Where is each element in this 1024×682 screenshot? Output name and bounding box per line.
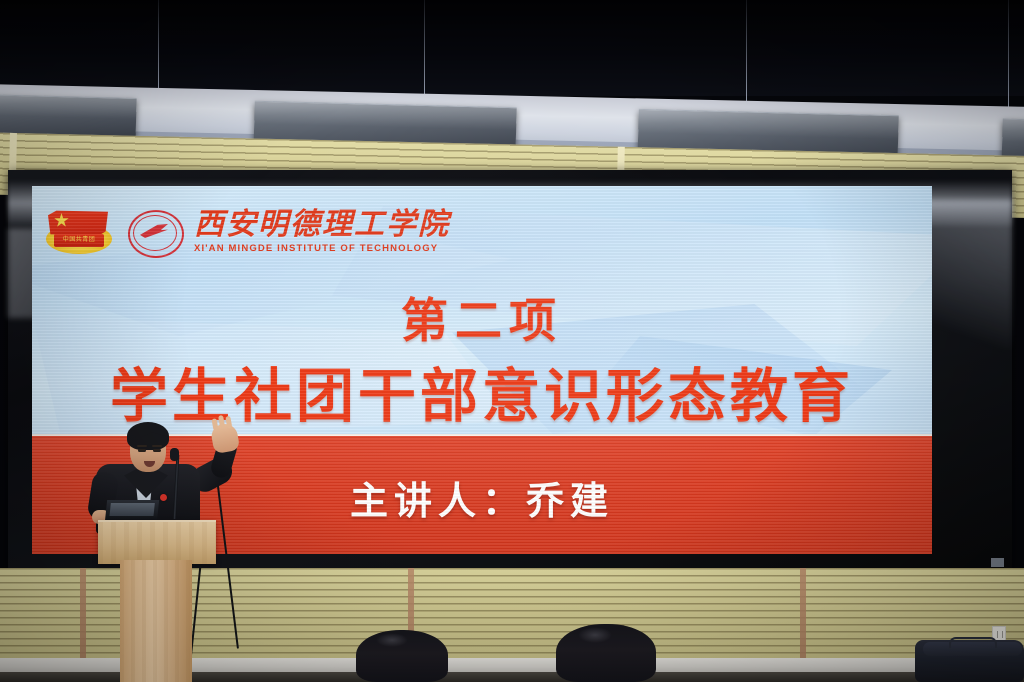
presenter-eye-right [153, 449, 161, 452]
emblem-band: 中国共青团 [54, 234, 104, 247]
lectern-column [120, 560, 192, 682]
lamp-gloss [638, 110, 898, 140]
laptop-screen [109, 503, 154, 516]
university-name-en: XI'AN MINGDE INSTITUTE OF TECHNOLOGY [194, 243, 450, 254]
light-cable [424, 0, 425, 104]
panel-joint [800, 568, 806, 668]
presenter-eyebrow-right [152, 445, 162, 447]
light-cable [1008, 0, 1009, 112]
university-seal-icon [126, 208, 182, 256]
audience-head-right [556, 624, 656, 682]
university-name-block: 西安明德理工学院 XI'AN MINGDE INSTITUTE OF TECHN… [194, 210, 450, 254]
hair-highlight [578, 627, 612, 642]
panel-joint [80, 568, 86, 668]
audience-head-left [356, 630, 448, 682]
communist-youth-league-emblem-icon: 中国共青团 [42, 208, 116, 256]
screen-status-pixel [991, 558, 1004, 567]
lecture-hall-photo: 中国共青团 西安明德理工学院 XI'AN MINGDE INSTITUTE OF… [0, 0, 1024, 682]
presenter-lapel-pin [160, 494, 167, 501]
presenter-eye-left [138, 449, 146, 452]
hair-highlight [376, 633, 407, 647]
duffel-bag-on-floor [915, 640, 1024, 682]
ceiling [0, 0, 1024, 96]
university-name-cn: 西安明德理工学院 [194, 210, 450, 240]
slide-logo-row: 中国共青团 西安明德理工学院 XI'AN MINGDE INSTITUTE OF… [42, 204, 450, 260]
slide-section-label: 第二项 [32, 282, 932, 351]
lectern-top [98, 520, 216, 564]
bag-handle [949, 637, 997, 648]
presenter-eyebrow-left [137, 445, 147, 447]
finger [225, 416, 232, 429]
laptop-on-lectern[interactable] [105, 500, 159, 522]
lamp-gloss [254, 102, 516, 131]
microphone-head-icon [170, 448, 179, 461]
lamp-gloss [0, 95, 137, 119]
light-cable [158, 0, 159, 96]
finger [212, 418, 219, 431]
presenter-hair [127, 422, 169, 450]
light-cable [746, 0, 747, 104]
lamp-gloss [1002, 120, 1024, 145]
